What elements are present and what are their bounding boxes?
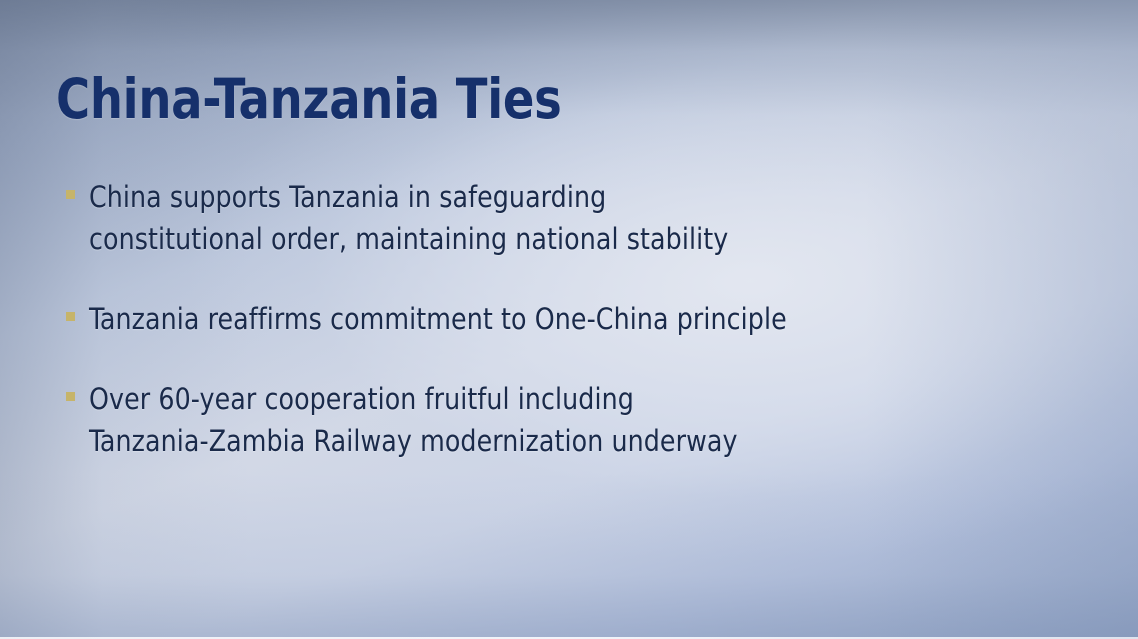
square-bullet-icon bbox=[66, 312, 75, 321]
square-bullet-icon bbox=[66, 190, 75, 199]
bullet-text: Tanzania reaffirms commitment to One-Chi… bbox=[89, 298, 1044, 340]
slide-title: China-Tanzania Ties bbox=[56, 72, 562, 127]
slide-content: China-Tanzania Ties China supports Tanza… bbox=[0, 0, 1138, 639]
square-bullet-icon bbox=[66, 392, 75, 401]
bullet-line: China supports Tanzania in safeguarding bbox=[89, 176, 1044, 218]
presentation-slide: China-Tanzania Ties China supports Tanza… bbox=[0, 0, 1138, 639]
bullet-text: China supports Tanzania in safeguarding … bbox=[89, 176, 1044, 260]
bullet-text: Over 60-year cooperation fruitful includ… bbox=[89, 378, 1044, 462]
bullet-line: Tanzania-Zambia Railway modernization un… bbox=[89, 420, 1044, 462]
bullet-line: Over 60-year cooperation fruitful includ… bbox=[89, 378, 1044, 420]
bullet-line: Tanzania reaffirms commitment to One-Chi… bbox=[89, 298, 1044, 340]
bullet-item: Over 60-year cooperation fruitful includ… bbox=[64, 378, 1074, 462]
bullet-line: constitutional order, maintaining nation… bbox=[89, 218, 1044, 260]
bullet-list: China supports Tanzania in safeguarding … bbox=[64, 176, 1074, 462]
bullet-item: Tanzania reaffirms commitment to One-Chi… bbox=[64, 298, 1074, 340]
bullet-item: China supports Tanzania in safeguarding … bbox=[64, 176, 1074, 260]
